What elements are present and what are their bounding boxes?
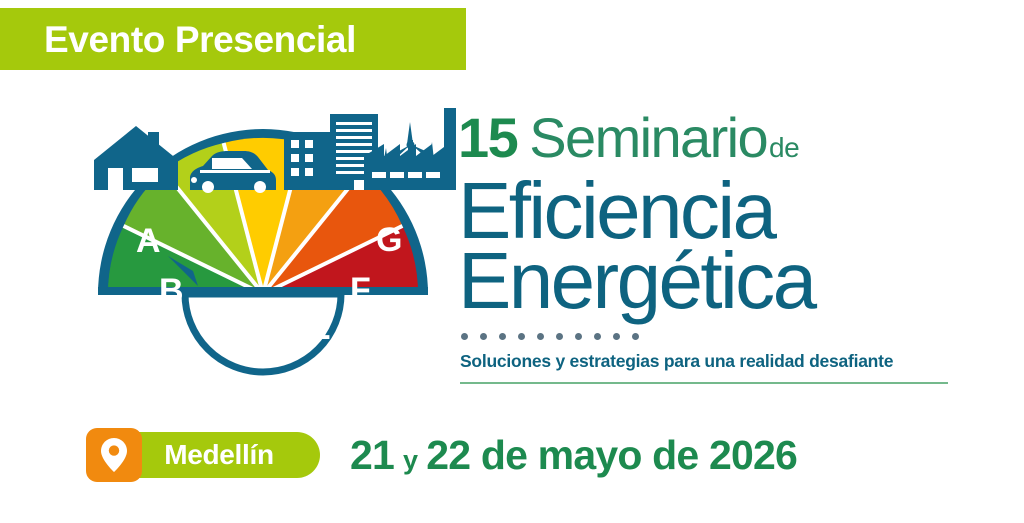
event-date-day-first: 21	[350, 435, 394, 476]
decor-dot	[613, 333, 620, 340]
decor-dot	[480, 333, 487, 340]
factory-icon	[358, 104, 468, 204]
map-pin-icon-box	[86, 428, 142, 482]
event-details-row: Medellín 21 y 22 de mayo de 2026	[86, 428, 797, 482]
event-date-remainder: 22 de mayo de 2026	[426, 435, 797, 476]
decor-dot	[575, 333, 582, 340]
house-icon	[94, 126, 178, 190]
decor-dot	[499, 333, 506, 340]
decor-dot	[594, 333, 601, 340]
location-city-label: Medellín	[164, 441, 274, 469]
decor-dot	[518, 333, 525, 340]
map-pin-icon	[101, 438, 127, 472]
seminar-connector: de	[769, 134, 799, 162]
event-date: 21 y 22 de mayo de 2026	[350, 435, 797, 476]
apartment-building-icon	[284, 132, 330, 190]
seminar-word: Seminario	[529, 110, 767, 166]
tagline-divider	[460, 382, 948, 384]
headline-line-2: Energética	[458, 244, 998, 318]
event-type-ribbon: Evento Presencial	[0, 8, 466, 70]
seminar-edition-number: 15	[458, 110, 517, 166]
title-block: 15 Seminario de Eficiencia Energética So…	[458, 110, 998, 384]
event-banner: Evento Presencial	[0, 0, 1024, 523]
gauge-baseline-bar	[98, 287, 428, 295]
decor-dot	[556, 333, 563, 340]
decor-dot	[537, 333, 544, 340]
gauge-inner-dome	[185, 294, 341, 372]
decor-dot	[461, 333, 468, 340]
seminar-line: 15 Seminario de	[458, 110, 998, 172]
decor-dot	[632, 333, 639, 340]
decorative-dot-row	[461, 333, 998, 340]
tagline: Soluciones y estrategias para una realid…	[460, 351, 998, 372]
location-chip: Medellín	[86, 428, 320, 482]
event-type-label: Evento Presencial	[0, 21, 356, 58]
event-date-conjunction: y	[403, 447, 417, 474]
